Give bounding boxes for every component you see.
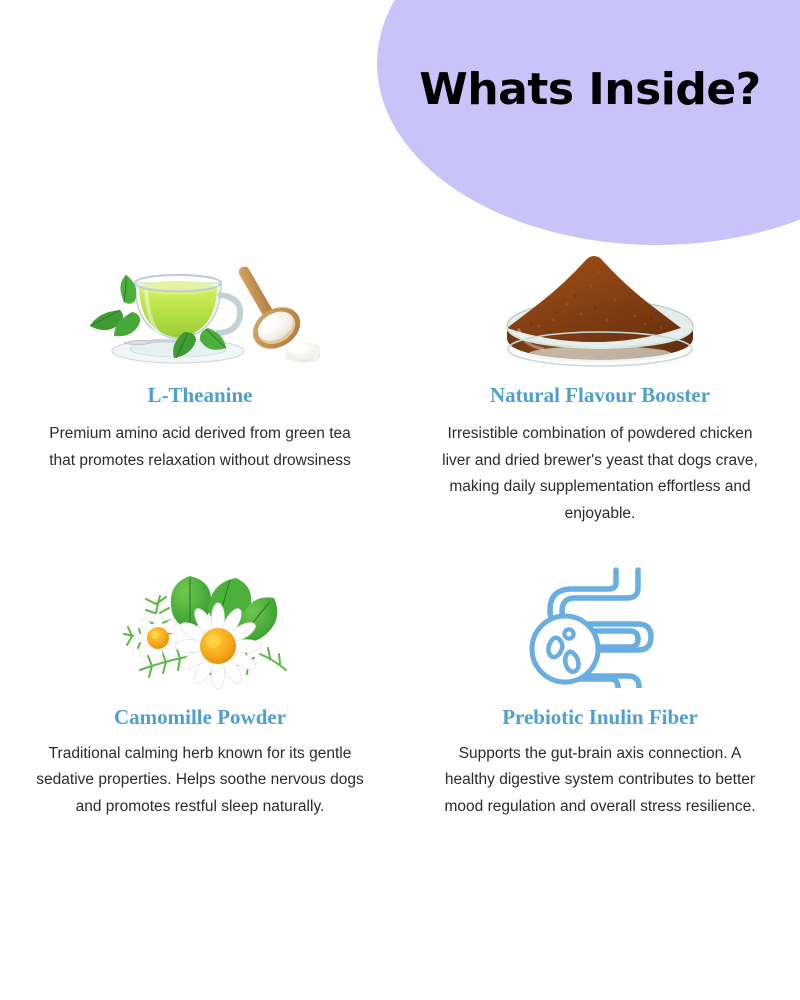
ingredient-description: Premium amino acid derived from green te… bbox=[35, 421, 365, 474]
brown-powder-bowl-image bbox=[480, 240, 720, 370]
ingredient-card-natural-flavour-booster: Natural Flavour Booster Irresistible com… bbox=[400, 240, 800, 528]
ingredient-card-l-theanine: L-Theanine Premium amino acid derived fr… bbox=[0, 240, 400, 528]
intestine-gut-icon bbox=[480, 562, 720, 692]
whats-inside-infographic: Whats Inside? bbox=[0, 0, 800, 1000]
ingredient-description: Irresistible combination of powdered chi… bbox=[435, 421, 765, 528]
ingredient-title: Prebiotic Inulin Fiber bbox=[502, 706, 698, 729]
page-title: Whats Inside? bbox=[380, 66, 800, 114]
ingredient-title: Camomille Powder bbox=[114, 706, 286, 729]
chamomile-flowers-image bbox=[80, 562, 320, 692]
header-band: Whats Inside? bbox=[0, 0, 800, 250]
ingredient-card-camomille-powder: Camomille Powder Traditional calming her… bbox=[0, 528, 400, 821]
header-blob-shape bbox=[377, 0, 800, 245]
ingredient-description: Supports the gut-brain axis connection. … bbox=[435, 741, 765, 821]
ingredient-card-prebiotic-inulin-fiber: Prebiotic Inulin Fiber Supports the gut-… bbox=[400, 528, 800, 821]
ingredient-title: L-Theanine bbox=[147, 384, 252, 407]
green-tea-cup-image bbox=[80, 240, 320, 370]
ingredients-grid: L-Theanine Premium amino acid derived fr… bbox=[0, 240, 800, 821]
ingredient-title: Natural Flavour Booster bbox=[490, 384, 710, 407]
ingredient-description: Traditional calming herb known for its g… bbox=[35, 741, 365, 821]
